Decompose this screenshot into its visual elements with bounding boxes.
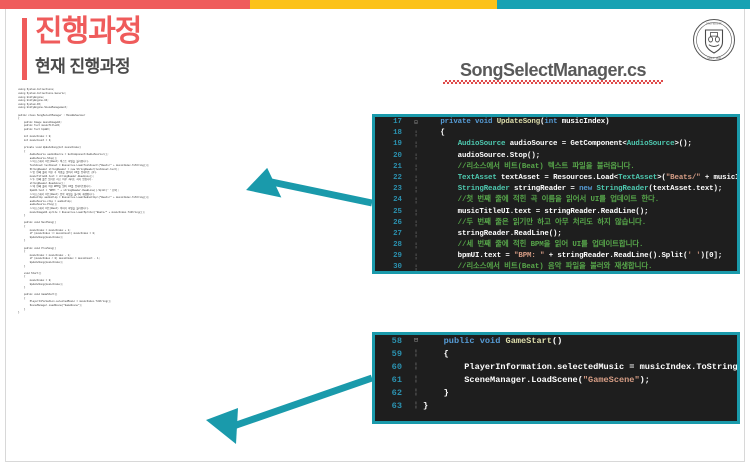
code-line: 27¦ stringReader.ReadLine(); (375, 229, 737, 240)
code-text: StringReader stringReader = new StringRe… (423, 184, 737, 195)
top-bar-segment-teal (497, 0, 750, 9)
line-number: 30 (375, 262, 409, 273)
line-number: 62 (375, 387, 409, 400)
code-fold-spacer: ¦ (409, 162, 423, 173)
code-text: } (423, 400, 737, 413)
full-source-thumbnail: using System.Collections; using System.C… (18, 88, 208, 460)
code-fold-spacer: ¦ (409, 207, 423, 218)
code-text: //리소스에서 비트(Beat) 텍스트 파일을 불러옵니다. (423, 162, 737, 173)
university-seal-logo: UNIVERSITY SINCE 1898 (692, 18, 736, 62)
code-text: //두 번째 줄은 읽기만 하고 아무 처리도 하지 않습니다. (423, 218, 737, 229)
code-line: 20¦ audioSource.Stop(); (375, 151, 737, 162)
line-number: 29 (375, 251, 409, 262)
code-rows-1: 17⊟ private void UpdateSong(int musicInd… (375, 117, 737, 274)
code-fold-spacer: ¦ (409, 195, 423, 206)
code-text: //첫 번째 줄에 적힌 곡 이름을 읽어서 UI를 업데이트 한다. (423, 195, 737, 206)
code-line: 58⊟ public void GameStart() (375, 335, 737, 348)
code-fold-spacer: ¦ (409, 218, 423, 229)
code-fold-spacer: ¦ (409, 374, 423, 387)
line-number: 24 (375, 195, 409, 206)
code-fold-spacer: ¦ (409, 229, 423, 240)
code-line: 21¦ //리소스에서 비트(Beat) 텍스트 파일을 불러옵니다. (375, 162, 737, 173)
top-color-bar (0, 0, 750, 9)
code-fold-toggle[interactable]: ⊟ (409, 335, 423, 348)
spellcheck-squiggle (443, 80, 663, 84)
code-line: 30¦ //리소스에서 비트(Beat) 음악 파일을 불러와 재생합니다. (375, 262, 737, 273)
code-line: 63¦} (375, 400, 737, 413)
code-text: { (423, 348, 737, 361)
code-text: bpmUI.text = "BPM: " + stringReader.Read… (423, 251, 737, 262)
code-fold-spacer: ¦ (409, 240, 423, 251)
game-start-code-panel: 58⊟ public void GameStart()59¦ {60¦ Play… (372, 332, 740, 424)
line-number: 23 (375, 184, 409, 195)
code-line: 59¦ { (375, 348, 737, 361)
code-line: 60¦ PlayerInformation.selectedMusic = mu… (375, 361, 737, 374)
line-number: 61 (375, 374, 409, 387)
code-rows-2: 58⊟ public void GameStart()59¦ {60¦ Play… (375, 335, 737, 413)
code-text: audioSource.Stop(); (423, 151, 737, 162)
code-line: 25¦ musicTitleUI.text = stringReader.Rea… (375, 207, 737, 218)
title-accent-rule (22, 18, 27, 80)
svg-text:UNIVERSITY: UNIVERSITY (706, 22, 722, 25)
line-number: 59 (375, 348, 409, 361)
code-fold-spacer: ¦ (409, 262, 423, 273)
top-bar-segment-yellow (250, 0, 497, 9)
page-subtitle: 현재 진행과정 (35, 52, 130, 77)
update-song-code-panel: 17⊟ private void UpdateSong(int musicInd… (372, 114, 740, 274)
page-title: 진행과정 (35, 16, 141, 48)
code-fold-spacer: ¦ (409, 128, 423, 139)
code-text: private void UpdateSong(int musicIndex) (423, 117, 737, 128)
code-fold-spacer: ¦ (409, 173, 423, 184)
code-fold-spacer: ¦ (409, 151, 423, 162)
line-number: 19 (375, 139, 409, 150)
code-fold-spacer: ¦ (409, 400, 423, 413)
code-text: public void GameStart() (423, 335, 737, 348)
code-file-heading: SongSelectManager.cs (443, 60, 663, 84)
code-fold-spacer: ¦ (409, 387, 423, 400)
code-line: 61¦ SceneManager.LoadScene("GameScene"); (375, 374, 737, 387)
line-number: 27 (375, 229, 409, 240)
code-line: 18¦ { (375, 128, 737, 139)
code-text: SceneManager.LoadScene("GameScene"); (423, 374, 737, 387)
code-line: 62¦ } (375, 387, 737, 400)
svg-text:SINCE 1898: SINCE 1898 (707, 57, 721, 60)
code-line: 28¦ //세 번째 줄에 적힌 BPM을 읽어 UI를 업데이트합니다. (375, 240, 737, 251)
code-file-name: SongSelectManager.cs (460, 60, 646, 80)
code-line: 22¦ TextAsset textAsset = Resources.Load… (375, 173, 737, 184)
code-fold-spacer: ¦ (409, 251, 423, 262)
code-text: //리소스에서 비트(Beat) 음악 파일을 불러와 재생합니다. (423, 262, 737, 273)
code-line: 17⊟ private void UpdateSong(int musicInd… (375, 117, 737, 128)
line-number: 21 (375, 162, 409, 173)
top-bar-segment-red (0, 0, 250, 9)
code-text: { (423, 128, 737, 139)
code-line: 24¦ //첫 번째 줄에 적힌 곡 이름을 읽어서 UI를 업데이트 한다. (375, 195, 737, 206)
code-line: 23¦ StringReader stringReader = new Stri… (375, 184, 737, 195)
line-number: 58 (375, 335, 409, 348)
line-number: 28 (375, 240, 409, 251)
code-text: //세 번째 줄에 적힌 BPM을 읽어 UI를 업데이트합니다. (423, 240, 737, 251)
code-line: 26¦ //두 번째 줄은 읽기만 하고 아무 처리도 하지 않습니다. (375, 218, 737, 229)
code-fold-spacer: ¦ (409, 139, 423, 150)
line-number: 18 (375, 128, 409, 139)
code-text: stringReader.ReadLine(); (423, 229, 737, 240)
line-number: 63 (375, 400, 409, 413)
line-number: 20 (375, 151, 409, 162)
code-text: AudioSource audioSource = GetComponent<A… (423, 139, 737, 150)
line-number: 25 (375, 207, 409, 218)
code-text: musicTitleUI.text = stringReader.ReadLin… (423, 207, 737, 218)
code-text: TextAsset textAsset = Resources.Load<Tex… (423, 173, 740, 184)
code-line: 29¦ bpmUI.text = "BPM: " + stringReader.… (375, 251, 737, 262)
code-text: PlayerInformation.selectedMusic = musicI… (423, 361, 740, 374)
code-fold-toggle[interactable]: ⊟ (409, 117, 423, 128)
line-number: 22 (375, 173, 409, 184)
code-fold-spacer: ¦ (409, 348, 423, 361)
line-number: 26 (375, 218, 409, 229)
code-line: 19¦ AudioSource audioSource = GetCompone… (375, 139, 737, 150)
line-number: 17 (375, 117, 409, 128)
code-fold-spacer: ¦ (409, 361, 423, 374)
code-text: } (423, 387, 737, 400)
code-fold-spacer: ¦ (409, 184, 423, 195)
line-number: 60 (375, 361, 409, 374)
